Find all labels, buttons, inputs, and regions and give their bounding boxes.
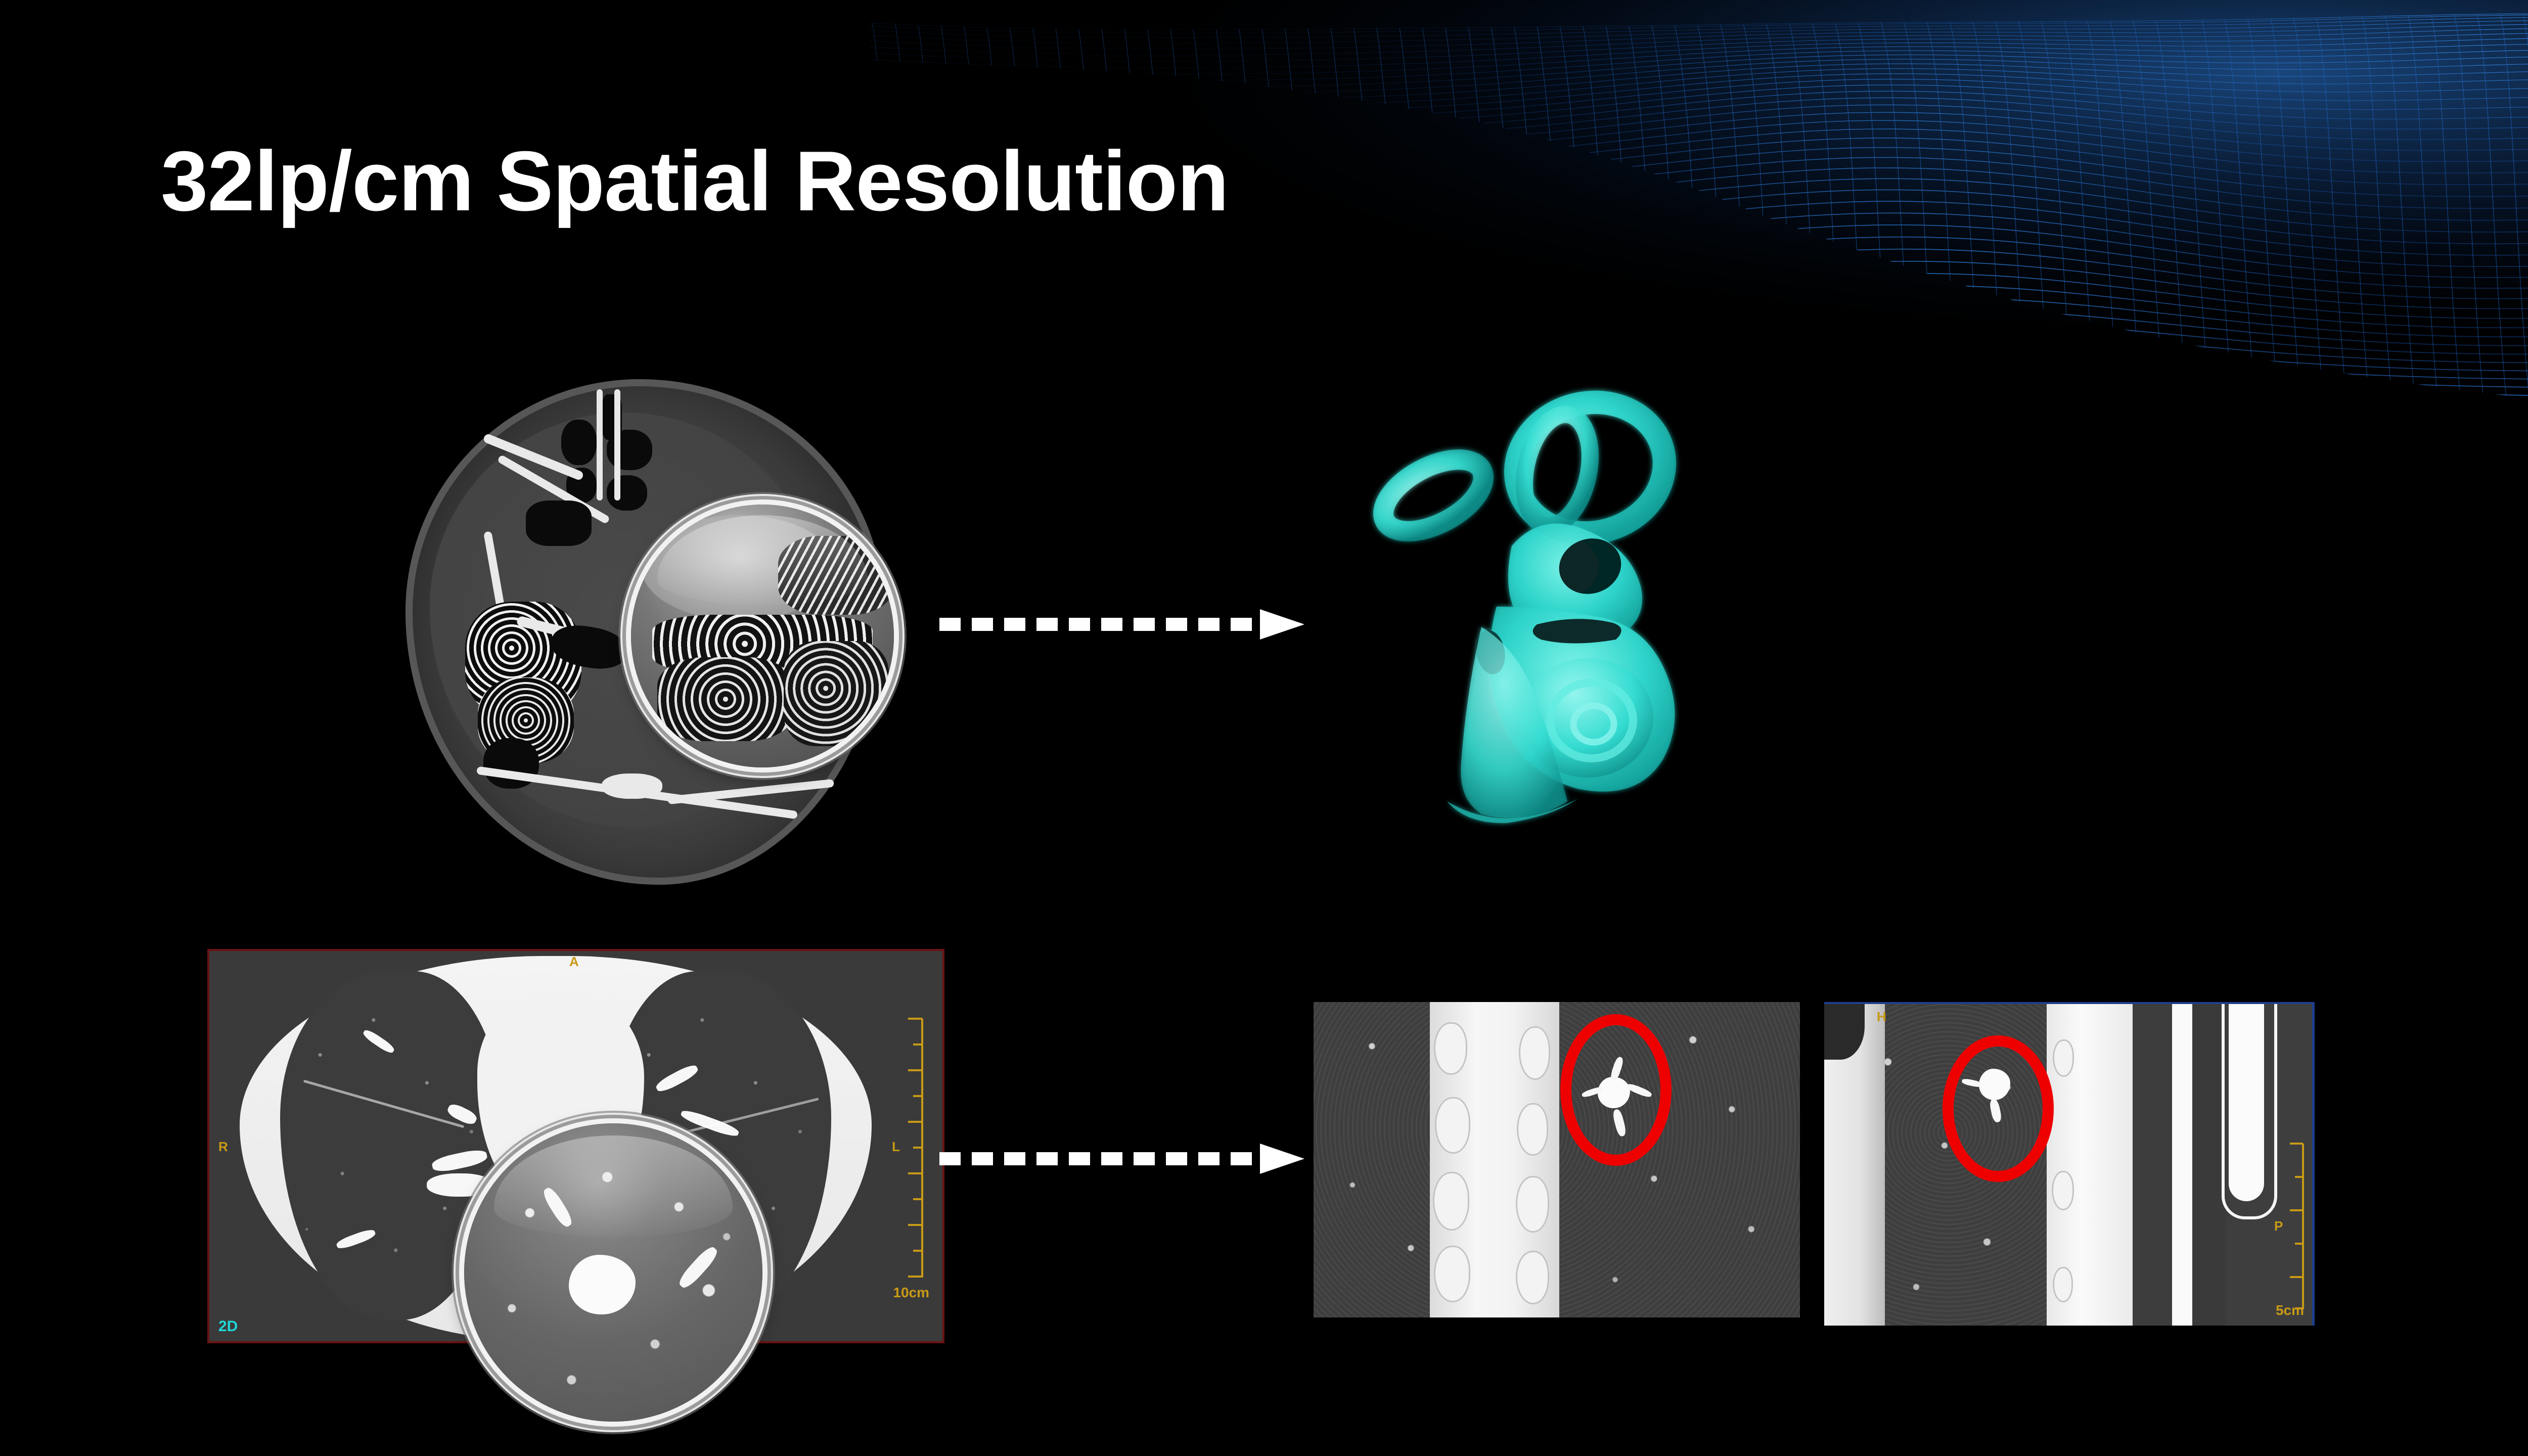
nasal-septum bbox=[597, 389, 603, 500]
page-title: 32lp/cm Spatial Resolution bbox=[161, 136, 1229, 225]
rib bbox=[1434, 1022, 1467, 1075]
nodule-highlight-circle bbox=[1560, 1014, 1672, 1166]
nasal-septum bbox=[614, 389, 620, 500]
table-pad-outline bbox=[2222, 1002, 2277, 1219]
magnifier-lens-chest[interactable] bbox=[464, 1123, 762, 1422]
magnifier-content bbox=[631, 505, 894, 767]
arrow-temporal-to-3d bbox=[935, 609, 1304, 640]
orientation-marker-anterior: A bbox=[569, 954, 579, 970]
scale-ruler-5cm bbox=[2282, 1142, 2306, 1311]
coronal-lung-reformat-panel bbox=[1314, 1002, 1800, 1317]
orientation-marker-head: H bbox=[1877, 1009, 1886, 1025]
scale-ruler-10cm bbox=[896, 1017, 925, 1280]
sinus-air-cell bbox=[561, 420, 597, 465]
inner-ear-labyrinth-svg bbox=[1315, 344, 1770, 859]
magnified-bone-trabeculae bbox=[778, 536, 894, 615]
rib bbox=[1434, 1246, 1470, 1302]
rib bbox=[1519, 1026, 1550, 1080]
sinus-air-cell bbox=[607, 430, 652, 470]
rib bbox=[1435, 1097, 1470, 1154]
sagittal-lung-reformat-panel: H P 5cm bbox=[1824, 1002, 2315, 1326]
rib bbox=[1516, 1176, 1549, 1233]
occipital-protuberance bbox=[602, 773, 662, 799]
magnified-petrous-detail bbox=[784, 641, 889, 746]
rib bbox=[2053, 1039, 2074, 1077]
orientation-marker-right: R bbox=[218, 1139, 228, 1155]
scale-label-5cm: 5cm bbox=[2276, 1302, 2304, 1318]
skin-line bbox=[2172, 1004, 2192, 1326]
rib bbox=[2053, 1267, 2073, 1302]
arrow-chest-to-reformats bbox=[935, 1144, 1304, 1174]
nodule-highlight-circle bbox=[1943, 1035, 2054, 1182]
background-air bbox=[2192, 1004, 2226, 1326]
temporal-bone-ct-panel bbox=[384, 364, 915, 900]
rib bbox=[1517, 1103, 1548, 1156]
inner-ear-3d-render-panel bbox=[1315, 344, 1770, 859]
magnifier-content bbox=[464, 1123, 762, 1422]
mode-label-2d: 2D bbox=[218, 1318, 238, 1335]
sinus-air-cell bbox=[607, 475, 647, 511]
rib bbox=[1433, 1172, 1469, 1231]
magnified-mastoid bbox=[657, 657, 794, 741]
paraspinal-band bbox=[2133, 1004, 2172, 1326]
pulmonary-nodule bbox=[569, 1255, 636, 1314]
magnifier-lens-temporal[interactable] bbox=[631, 505, 894, 767]
sphenoid-sinus bbox=[526, 500, 592, 546]
rib bbox=[1516, 1251, 1549, 1304]
rib bbox=[2052, 1171, 2074, 1210]
scale-label-10cm: 10cm bbox=[893, 1285, 929, 1301]
